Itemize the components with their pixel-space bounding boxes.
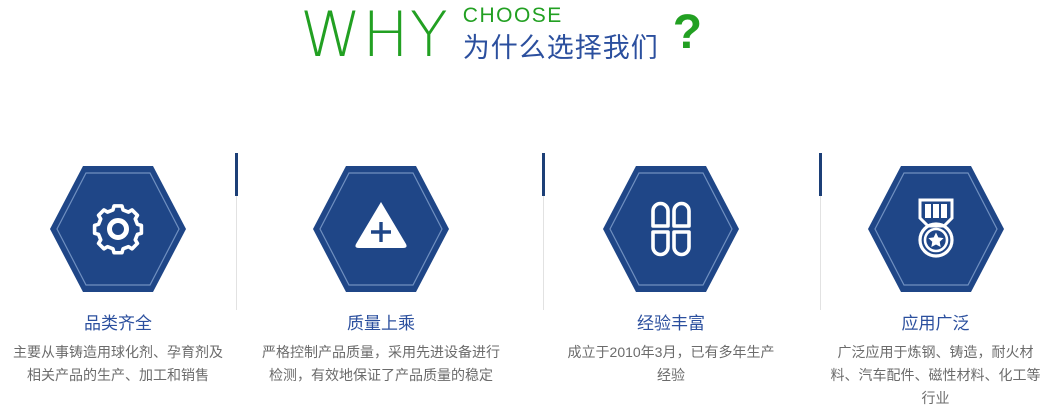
divider-accent [819, 153, 822, 196]
card-divider [235, 150, 238, 310]
feature-card[interactable]: 质量上乘 严格控制产品质量，采用先进设备进行检测，有效地保证了产品质量的稳定 [236, 150, 526, 416]
heading-why: WHY [300, 0, 449, 70]
feature-card[interactable]: 品类齐全 主要从事铸造用球化剂、孕育剂及相关产品的生产、加工和销售 [0, 150, 236, 416]
heading-question-mark: ? [673, 6, 702, 70]
divider-accent [542, 153, 545, 196]
feature-card-description: 严格控制产品质量，采用先进设备进行检测，有效地保证了产品质量的稳定 [262, 341, 500, 387]
divider-line [236, 196, 237, 310]
feature-card-title: 质量上乘 [347, 313, 415, 335]
hexagon-badge [866, 164, 1006, 294]
card-divider [819, 150, 822, 310]
section-header: WHY CHOOSE 为什么选择我们 ? [0, 0, 1055, 95]
heading-chinese-subtitle: 为什么选择我们 [463, 31, 659, 65]
feature-card-list: 品类齐全 主要从事铸造用球化剂、孕育剂及相关产品的生产、加工和销售 质量上乘 严… [0, 150, 1055, 416]
hexagon-badge [311, 164, 451, 294]
feature-card-title: 品类齐全 [84, 313, 152, 335]
hexagon-badge [601, 164, 741, 294]
card-divider [542, 150, 545, 310]
feature-card-title: 应用广泛 [902, 313, 970, 335]
divider-accent [235, 153, 238, 196]
feature-card-title: 经验丰富 [637, 313, 705, 335]
feature-card[interactable]: 应用广泛 广泛应用于炼钢、铸造，耐火材料、汽车配件、磁性材料、化工等行业 [816, 150, 1055, 416]
why-choose-us-section: WHY CHOOSE 为什么选择我们 ? 品类齐全 [0, 0, 1055, 416]
feature-card[interactable]: 经验丰富 成立于2010年3月，已有多年生产经验 [526, 150, 816, 416]
feature-card-description: 主要从事铸造用球化剂、孕育剂及相关产品的生产、加工和销售 [13, 341, 223, 387]
divider-line [820, 196, 821, 310]
divider-line [543, 196, 544, 310]
feature-card-description: 广泛应用于炼钢、铸造，耐火材料、汽车配件、磁性材料、化工等行业 [828, 341, 1043, 410]
hexagon-badge [48, 164, 188, 294]
feature-card-description: 成立于2010年3月，已有多年生产经验 [564, 341, 779, 387]
heading-choose: CHOOSE [463, 4, 659, 28]
